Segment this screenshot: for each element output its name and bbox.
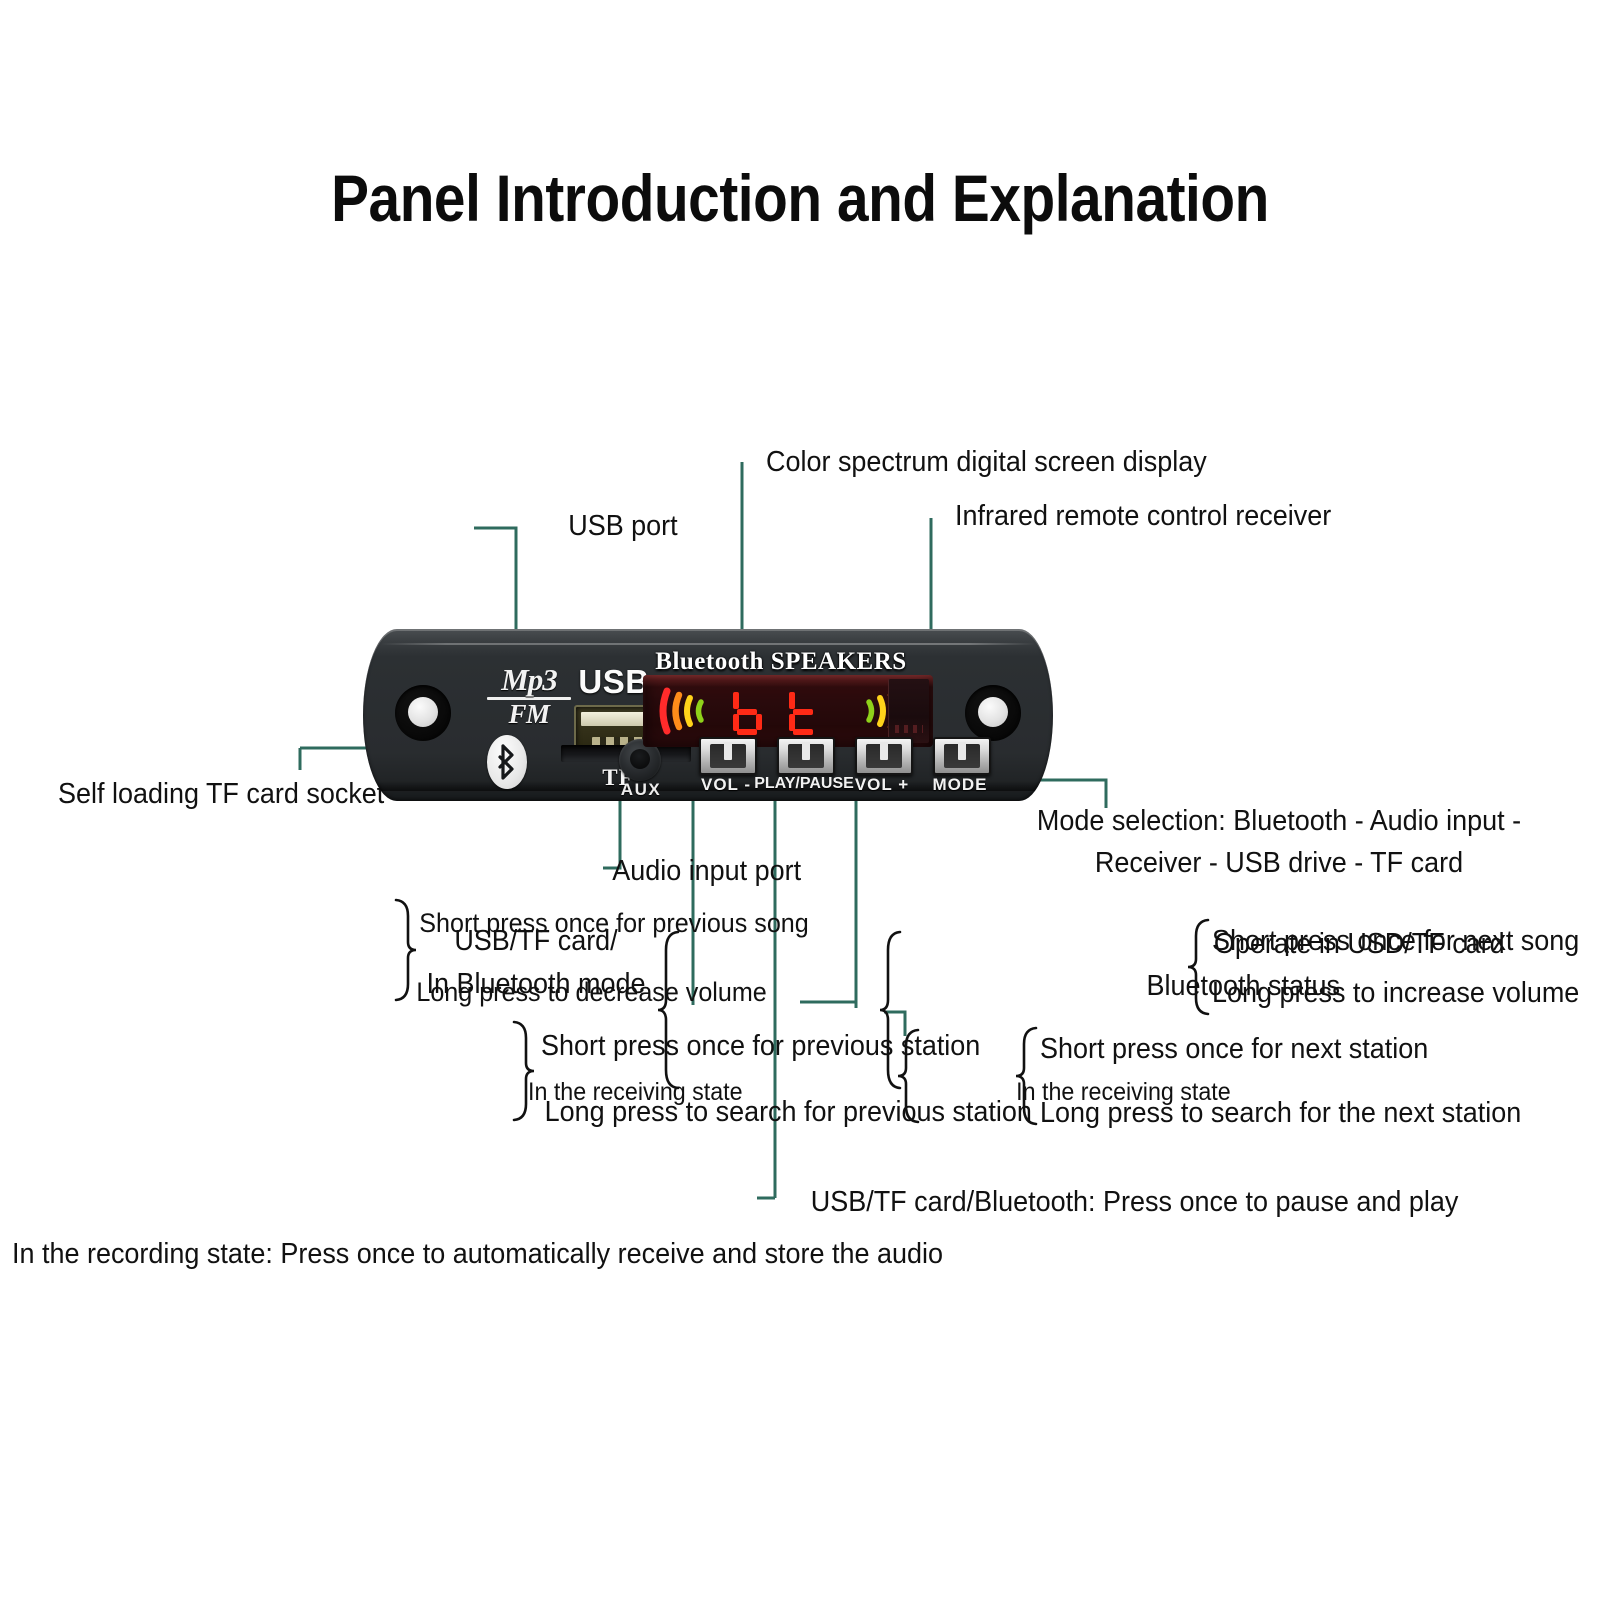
brace-left-top — [392, 898, 418, 1002]
callout-mode-selection-line2: Receiver - USB drive - TF card — [1095, 847, 1463, 880]
infrared-receiver-window — [888, 679, 929, 743]
label-next-station: Short press once for next station — [1040, 1033, 1428, 1066]
decoder-board: Mp3 FM USB TF AUX Bluetooth SPEAKERS — [363, 629, 1053, 801]
aux-label: AUX — [603, 780, 679, 800]
board-body: Mp3 FM USB TF AUX Bluetooth SPEAKERS — [363, 629, 1053, 801]
vol-minus-button[interactable] — [699, 737, 757, 775]
brace-right-bottom — [1014, 1026, 1040, 1126]
label-middle-receiving-state: In the receiving state — [528, 1078, 743, 1107]
ir-contacts — [895, 725, 923, 733]
callout-audio-input-port: Audio input port — [612, 855, 801, 888]
mounting-hole-left — [395, 685, 451, 741]
mode-button[interactable] — [933, 737, 991, 775]
label-recording-note: In the recording state: Press once to au… — [12, 1238, 943, 1271]
label-increase-volume: Long press to increase volume — [1212, 977, 1579, 1010]
vol-plus-button[interactable] — [855, 737, 913, 775]
page-root: Panel Introduction and Explanation — [0, 0, 1600, 1600]
brand-text: Bluetooth SPEAKERS — [631, 648, 931, 676]
callout-usb-port: USB port — [568, 510, 677, 543]
mode-label: MODE — [903, 775, 1017, 795]
label-right-receiving-state: In the receiving state — [1016, 1078, 1231, 1107]
page-title: Panel Introduction and Explanation — [112, 160, 1488, 236]
mode-notch — [958, 742, 966, 760]
brace-middle-top — [656, 930, 682, 1090]
mounting-hole-right — [965, 685, 1021, 741]
play-pause-notch — [802, 742, 810, 760]
callout-tf-card-socket: Self loading TF card socket — [58, 778, 384, 811]
fm-text: FM — [481, 701, 577, 728]
label-next-song: Short press once for next song — [1212, 925, 1579, 958]
play-pause-button[interactable] — [777, 737, 835, 775]
callout-color-spectrum: Color spectrum digital screen display — [766, 446, 1207, 479]
label-play-pause-note: USB/TF card/Bluetooth: Press once to pau… — [811, 1186, 1459, 1219]
label-in-bluetooth-mode: In Bluetooth mode — [427, 968, 646, 1001]
bluetooth-icon — [487, 735, 527, 789]
vol-minus-notch — [724, 742, 732, 760]
label-usb-tf-card: USB/TF card/ — [454, 925, 617, 958]
callout-mode-selection-line1: Mode selection: Bluetooth - Audio input … — [1037, 805, 1521, 838]
seven-segment-display — [727, 689, 843, 735]
callout-infrared-receiver: Infrared remote control receiver — [955, 500, 1331, 533]
brace-right-receiving — [896, 1028, 922, 1124]
brace-right-top — [1186, 918, 1212, 1016]
spectrum-left-icon — [657, 685, 715, 737]
vol-plus-notch — [880, 742, 888, 760]
